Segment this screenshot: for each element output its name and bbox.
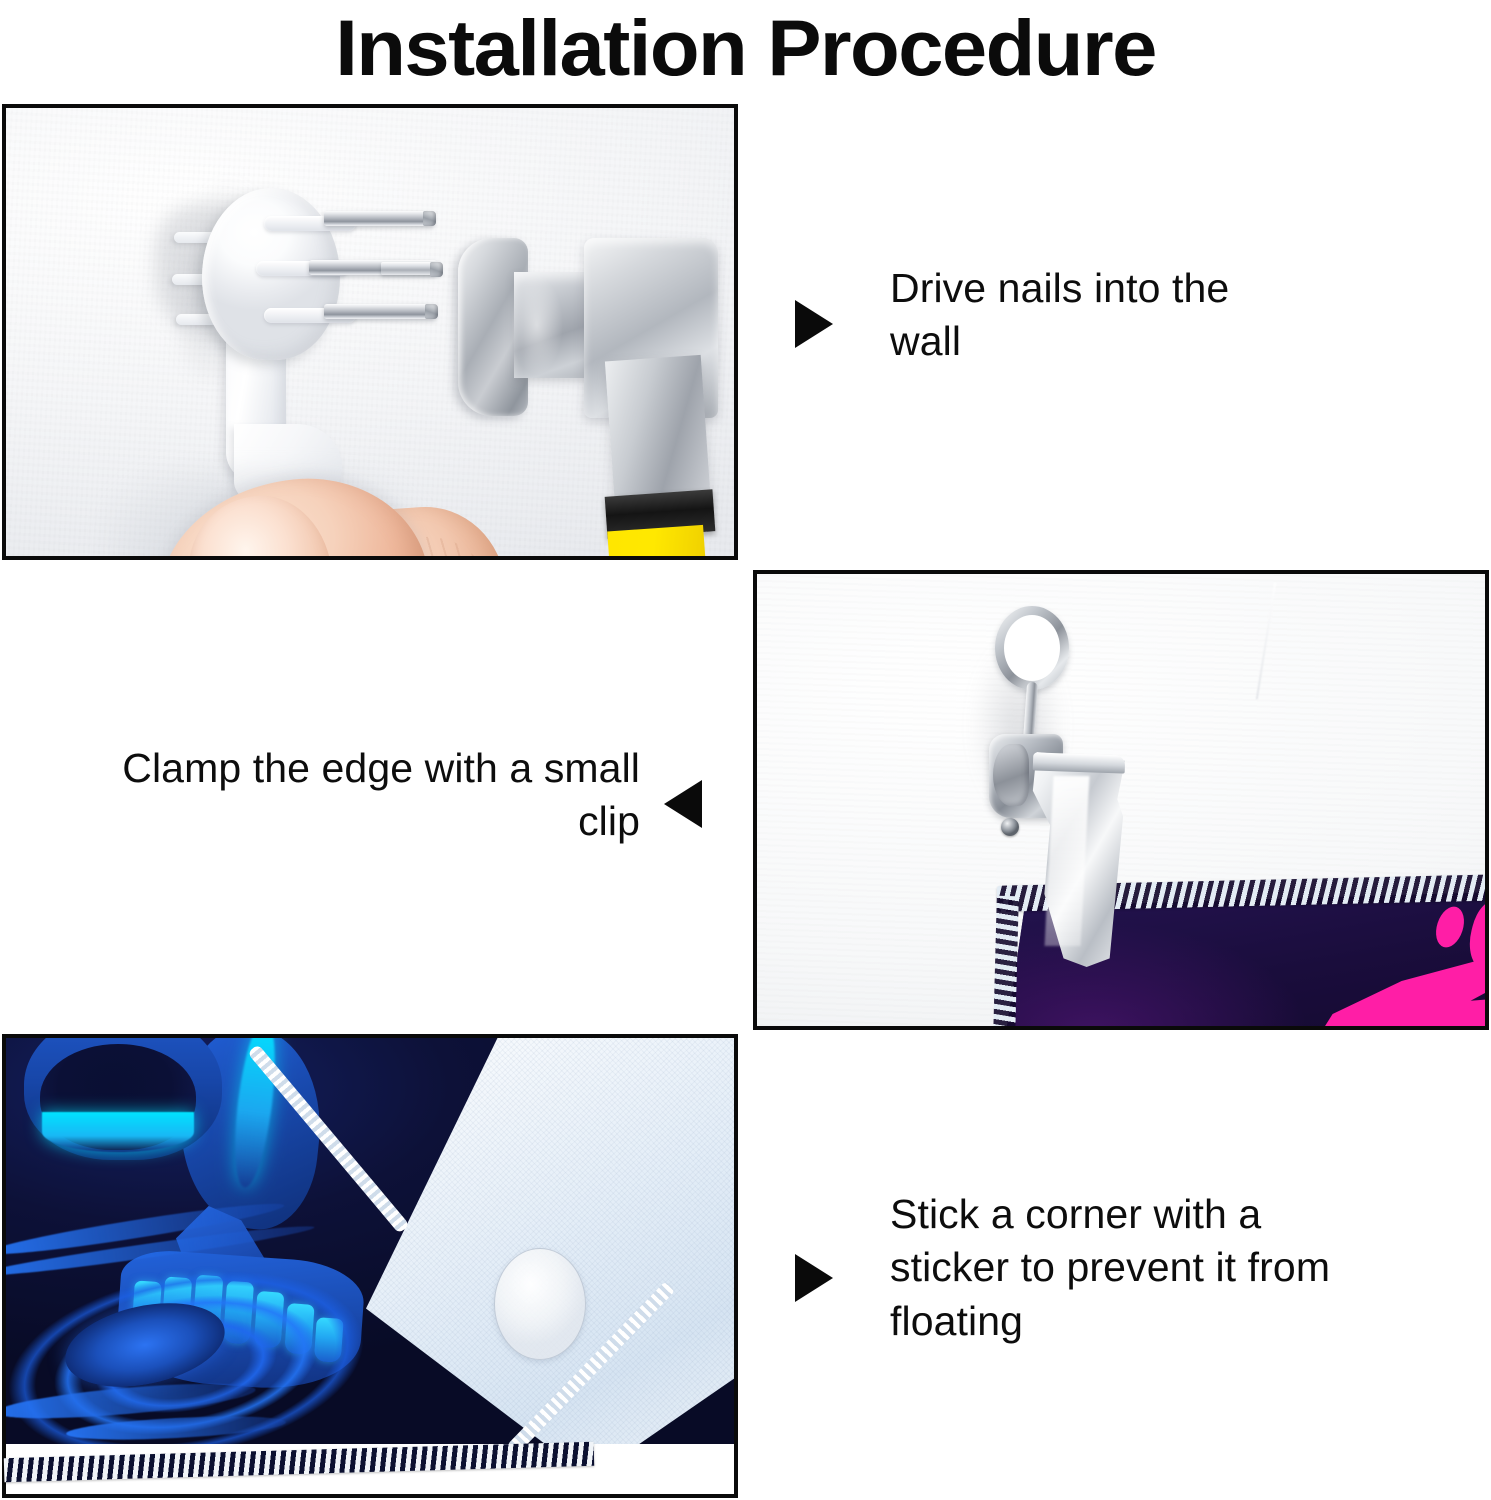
skull-eye-glow xyxy=(42,1112,194,1152)
step-1-image-panel xyxy=(2,104,738,560)
clip-jaw-top-edge xyxy=(1033,752,1126,773)
steel-nail xyxy=(324,211,434,226)
skull-tapestry xyxy=(6,1038,738,1444)
clip-spring xyxy=(993,744,1029,806)
nail-tip xyxy=(423,211,436,226)
clip-hanging-ring xyxy=(995,606,1069,690)
page-title: Installation Procedure xyxy=(0,0,1491,96)
whipstitch-edge-left xyxy=(993,896,1019,1030)
clip-rivet xyxy=(1001,818,1019,836)
steel-nail xyxy=(324,304,436,319)
step-2-caption: Clamp the edge with a small clip xyxy=(60,742,640,849)
nail-tip xyxy=(430,262,443,277)
triangle-left-icon xyxy=(664,780,702,828)
hammer-handle xyxy=(607,525,713,560)
steel-nail-segment xyxy=(381,262,441,275)
nail-tip xyxy=(425,304,438,319)
triangle-right-icon xyxy=(795,300,833,348)
triangle-right-icon xyxy=(795,1254,833,1302)
step-3-caption: Stick a corner with a sticker to prevent… xyxy=(890,1188,1390,1348)
step-2-image-panel xyxy=(753,570,1489,1030)
round-adhesive-sticker xyxy=(494,1248,586,1360)
step-1-caption: Drive nails into the wall xyxy=(890,262,1310,369)
hammer-shaft xyxy=(605,355,711,511)
step-3-image-panel xyxy=(2,1034,738,1498)
